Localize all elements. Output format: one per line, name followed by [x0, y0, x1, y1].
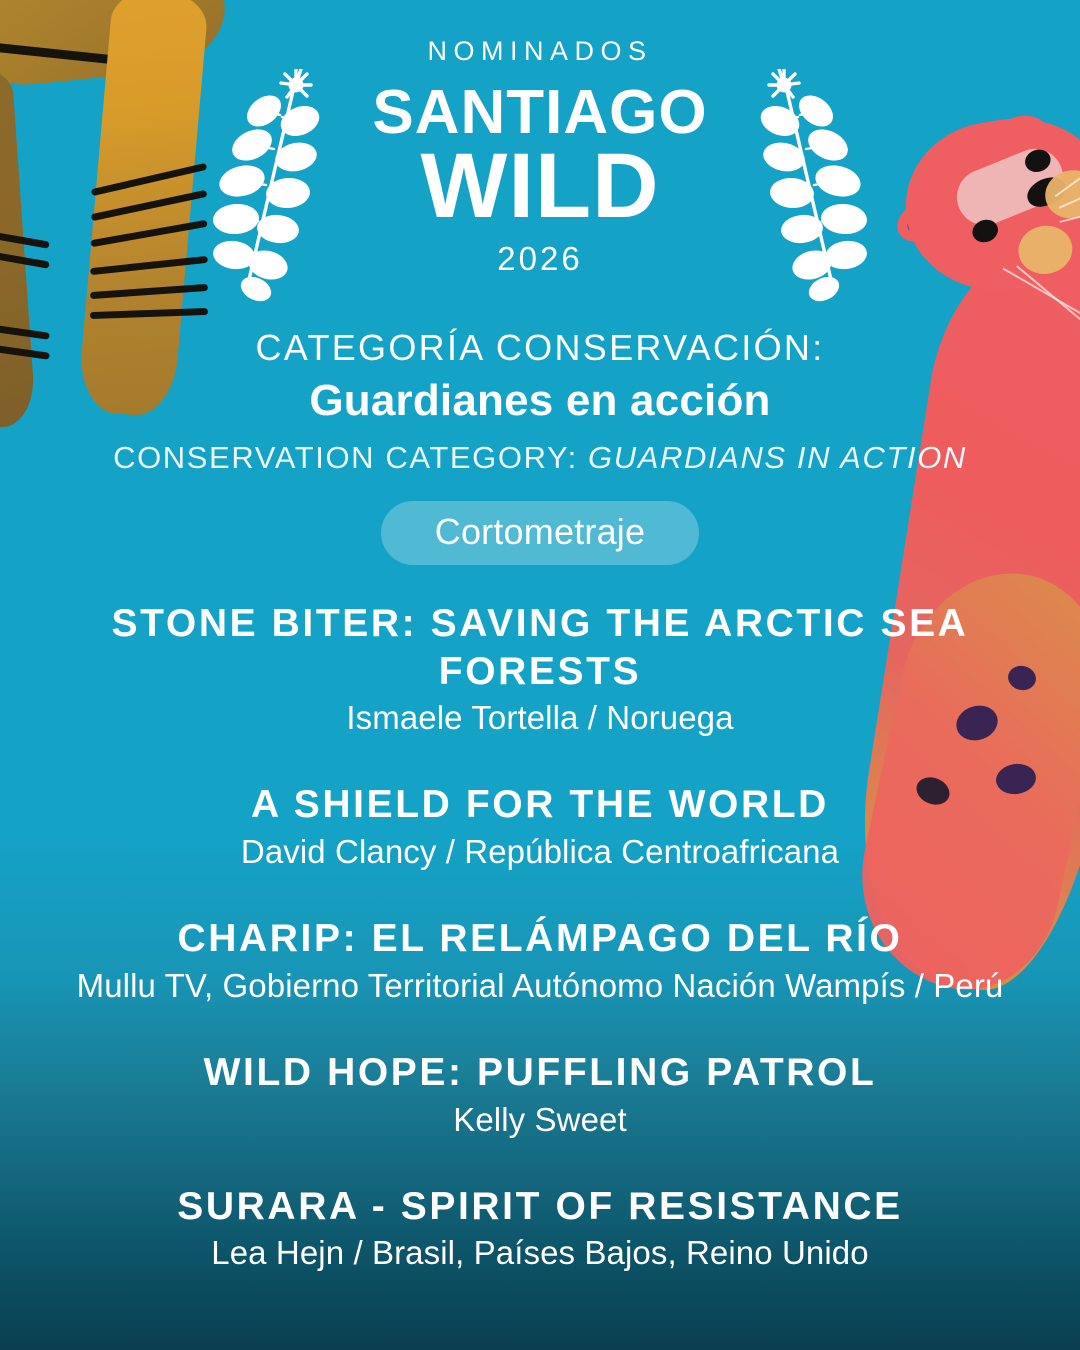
category-kicker: CATEGORÍA CONSERVACIÓN: [0, 327, 1080, 369]
festival-logo: NOMINADOS [0, 38, 1080, 278]
category-title: Guardianes en acción [0, 373, 1080, 428]
nominee-title: CHARIP: EL RELÁMPAGO DEL RÍO [60, 915, 1020, 963]
nominee-item[interactable]: A SHIELD FOR THE WORLD David Clancy / Re… [60, 781, 1020, 873]
nominee-credit: Kelly Sweet [60, 1099, 1020, 1141]
category-english-line: CONSERVATION CATEGORY: GUARDIANS IN ACTI… [0, 438, 1080, 478]
nominee-credit: Ismaele Tortella / Noruega [60, 697, 1020, 739]
nominee-credit: Lea Hejn / Brasil, Países Bajos, Reino U… [60, 1232, 1020, 1274]
nominee-item[interactable]: CHARIP: EL RELÁMPAGO DEL RÍO Mullu TV, G… [60, 915, 1020, 1007]
category-english-title: GUARDIANS IN ACTION [588, 440, 967, 475]
laurel-branch-icon [208, 69, 328, 304]
nominee-title: SURARA - SPIRIT OF RESISTANCE [60, 1183, 1020, 1231]
nominee-item[interactable]: WILD HOPE: PUFFLING PATROL Kelly Sweet [60, 1049, 1020, 1141]
nominee-title: STONE BITER: SAVING THE ARCTIC SEA FORES… [60, 600, 1020, 695]
nominados-label: NOMINADOS [0, 38, 1080, 65]
wordmark-wild: WILD [310, 144, 770, 229]
nominee-item[interactable]: STONE BITER: SAVING THE ARCTIC SEA FORES… [60, 600, 1020, 739]
laurel-branch-icon [752, 69, 872, 304]
wordmark: SANTIAGO WILD 2026 [310, 83, 770, 278]
category-english-prefix: CONSERVATION CATEGORY: [113, 440, 588, 475]
nominee-item[interactable]: SURARA - SPIRIT OF RESISTANCE Lea Hejn /… [60, 1183, 1020, 1275]
nominee-credit: David Clancy / República Centroafricana [60, 831, 1020, 873]
nominee-credit: Mullu TV, Gobierno Territorial Autónomo … [60, 965, 1020, 1007]
nominee-title: A SHIELD FOR THE WORLD [60, 781, 1020, 829]
category-header: CATEGORÍA CONSERVACIÓN: Guardianes en ac… [0, 327, 1080, 565]
nominee-title: WILD HOPE: PUFFLING PATROL [60, 1049, 1020, 1097]
wordmark-year: 2026 [310, 240, 770, 278]
animal-stripe [90, 284, 208, 299]
nominee-list: STONE BITER: SAVING THE ARCTIC SEA FORES… [60, 600, 1020, 1275]
animal-stripe [90, 308, 208, 319]
nominee-announcement-poster: NOMINADOS [0, 0, 1080, 1350]
format-badge[interactable]: Cortometraje [381, 501, 699, 566]
